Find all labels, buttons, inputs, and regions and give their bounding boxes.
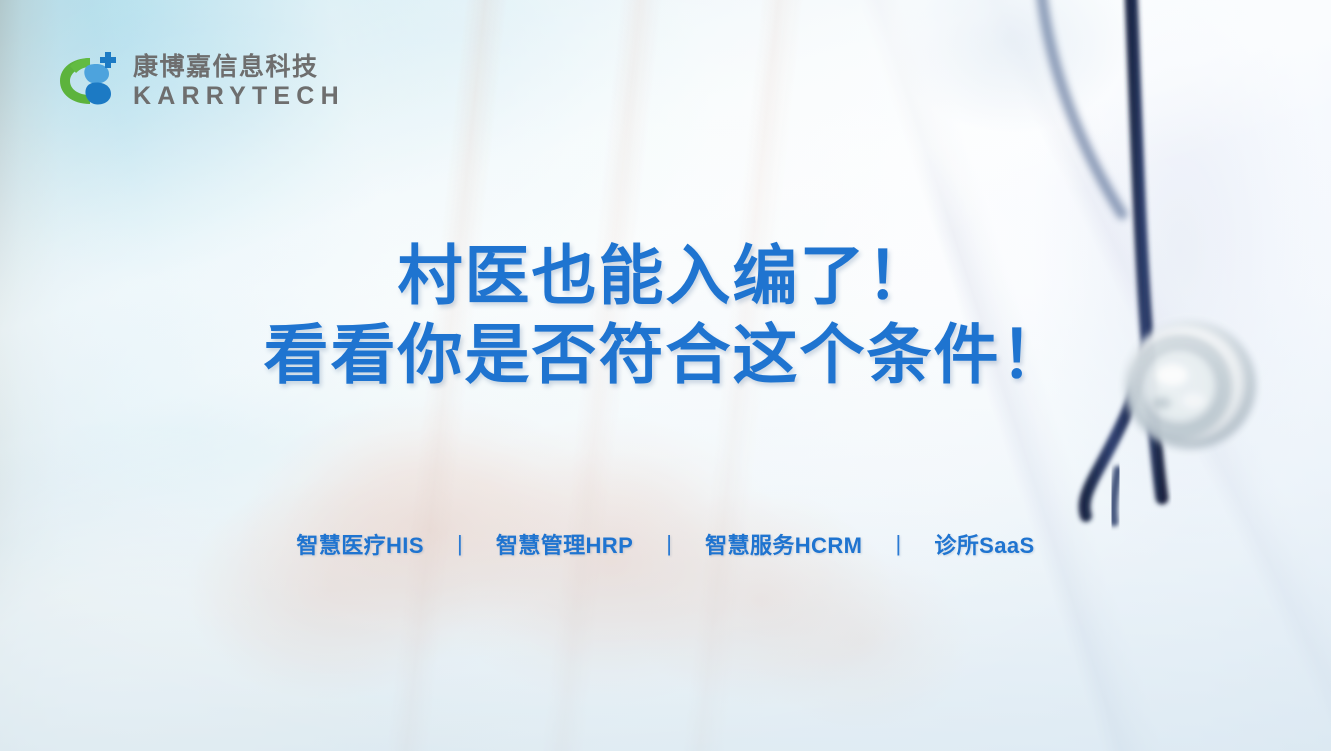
nav-separator: |	[424, 531, 496, 557]
nav-item-saas[interactable]: 诊所SaaS	[934, 528, 1034, 560]
nav-item-hrp[interactable]: 智慧管理HRP	[496, 528, 633, 560]
nav-item-hcrm[interactable]: 智慧服务HCRM	[705, 528, 862, 560]
brand-name-en: KARRYTECH	[133, 82, 345, 111]
brand-name-cn: 康博嘉信息科技	[133, 53, 345, 81]
product-nav: 智慧医疗HIS | 智慧管理HRP | 智慧服务HCRM | 诊所SaaS	[0, 528, 1331, 560]
promo-banner-slide: 康博嘉信息科技 KARRYTECH 村医也能入编了！ 看看你是否符合这个条件！ …	[0, 0, 1331, 751]
brand-wordmark: 康博嘉信息科技 KARRYTECH	[133, 53, 345, 111]
karrytech-leaf-cross-logo-icon	[56, 49, 120, 113]
brand-logo[interactable]: 康博嘉信息科技 KARRYTECH	[56, 49, 345, 113]
nav-separator: |	[862, 531, 934, 557]
nav-item-his[interactable]: 智慧医疗HIS	[296, 528, 423, 560]
nav-separator: |	[633, 531, 705, 557]
